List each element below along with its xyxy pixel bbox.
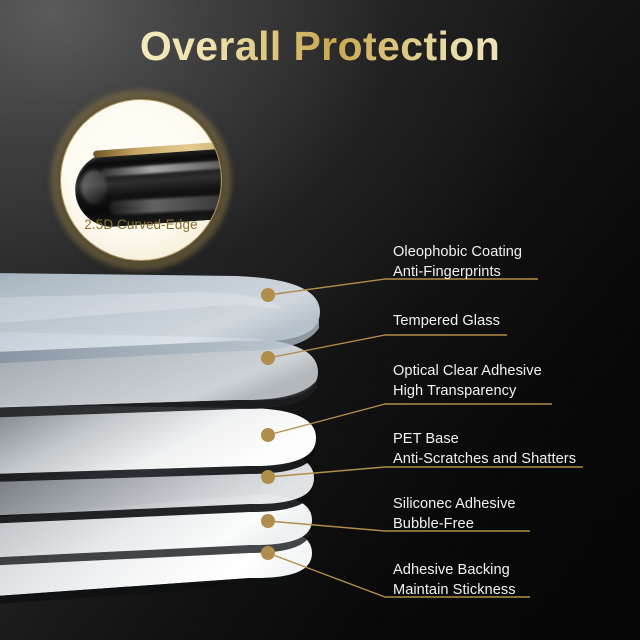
callout-label-line1: Tempered Glass (393, 313, 500, 329)
callout-label-6: Adhesive BackingMaintain Stickness (393, 561, 516, 600)
callout-dot[interactable] (261, 351, 275, 365)
callout-label-line1: Oleophobic Coating (393, 244, 522, 260)
callout-label-line1: PET Base (393, 431, 459, 447)
callout-label-5: Siliconec AdhesiveBubble-Free (393, 495, 516, 534)
callout-label-3: Optical Clear AdhesiveHigh Transparency (393, 362, 542, 401)
callout-label-line2: Anti-Scratches and Shatters (393, 450, 576, 470)
callout-dot[interactable] (261, 428, 275, 442)
infographic-canvas: 2.5D Curved-Edge Overall Protection Oleo… (0, 0, 640, 640)
callout-label-line2: Bubble-Free (393, 515, 516, 535)
callout-label-2: Tempered Glass (393, 312, 500, 332)
callout-label-line1: Siliconec Adhesive (393, 496, 516, 512)
callout-label-1: Oleophobic CoatingAnti-Fingerprints (393, 243, 522, 282)
callout-label-line1: Optical Clear Adhesive (393, 363, 542, 379)
callout-leader-lines (0, 0, 640, 640)
callout-dot[interactable] (261, 288, 275, 302)
callout-dot[interactable] (261, 514, 275, 528)
callout-4 (261, 467, 583, 484)
callout-label-line2: High Transparency (393, 382, 542, 402)
callout-dot[interactable] (261, 546, 275, 560)
callout-2 (261, 335, 507, 365)
callout-1 (261, 279, 538, 302)
callout-dot[interactable] (261, 470, 275, 484)
callout-label-line2: Anti-Fingerprints (393, 263, 522, 283)
callout-label-line1: Adhesive Backing (393, 562, 510, 578)
callout-label-line2: Maintain Stickness (393, 581, 516, 601)
leader-line (268, 335, 507, 358)
callout-label-4: PET BaseAnti-Scratches and Shatters (393, 430, 576, 469)
